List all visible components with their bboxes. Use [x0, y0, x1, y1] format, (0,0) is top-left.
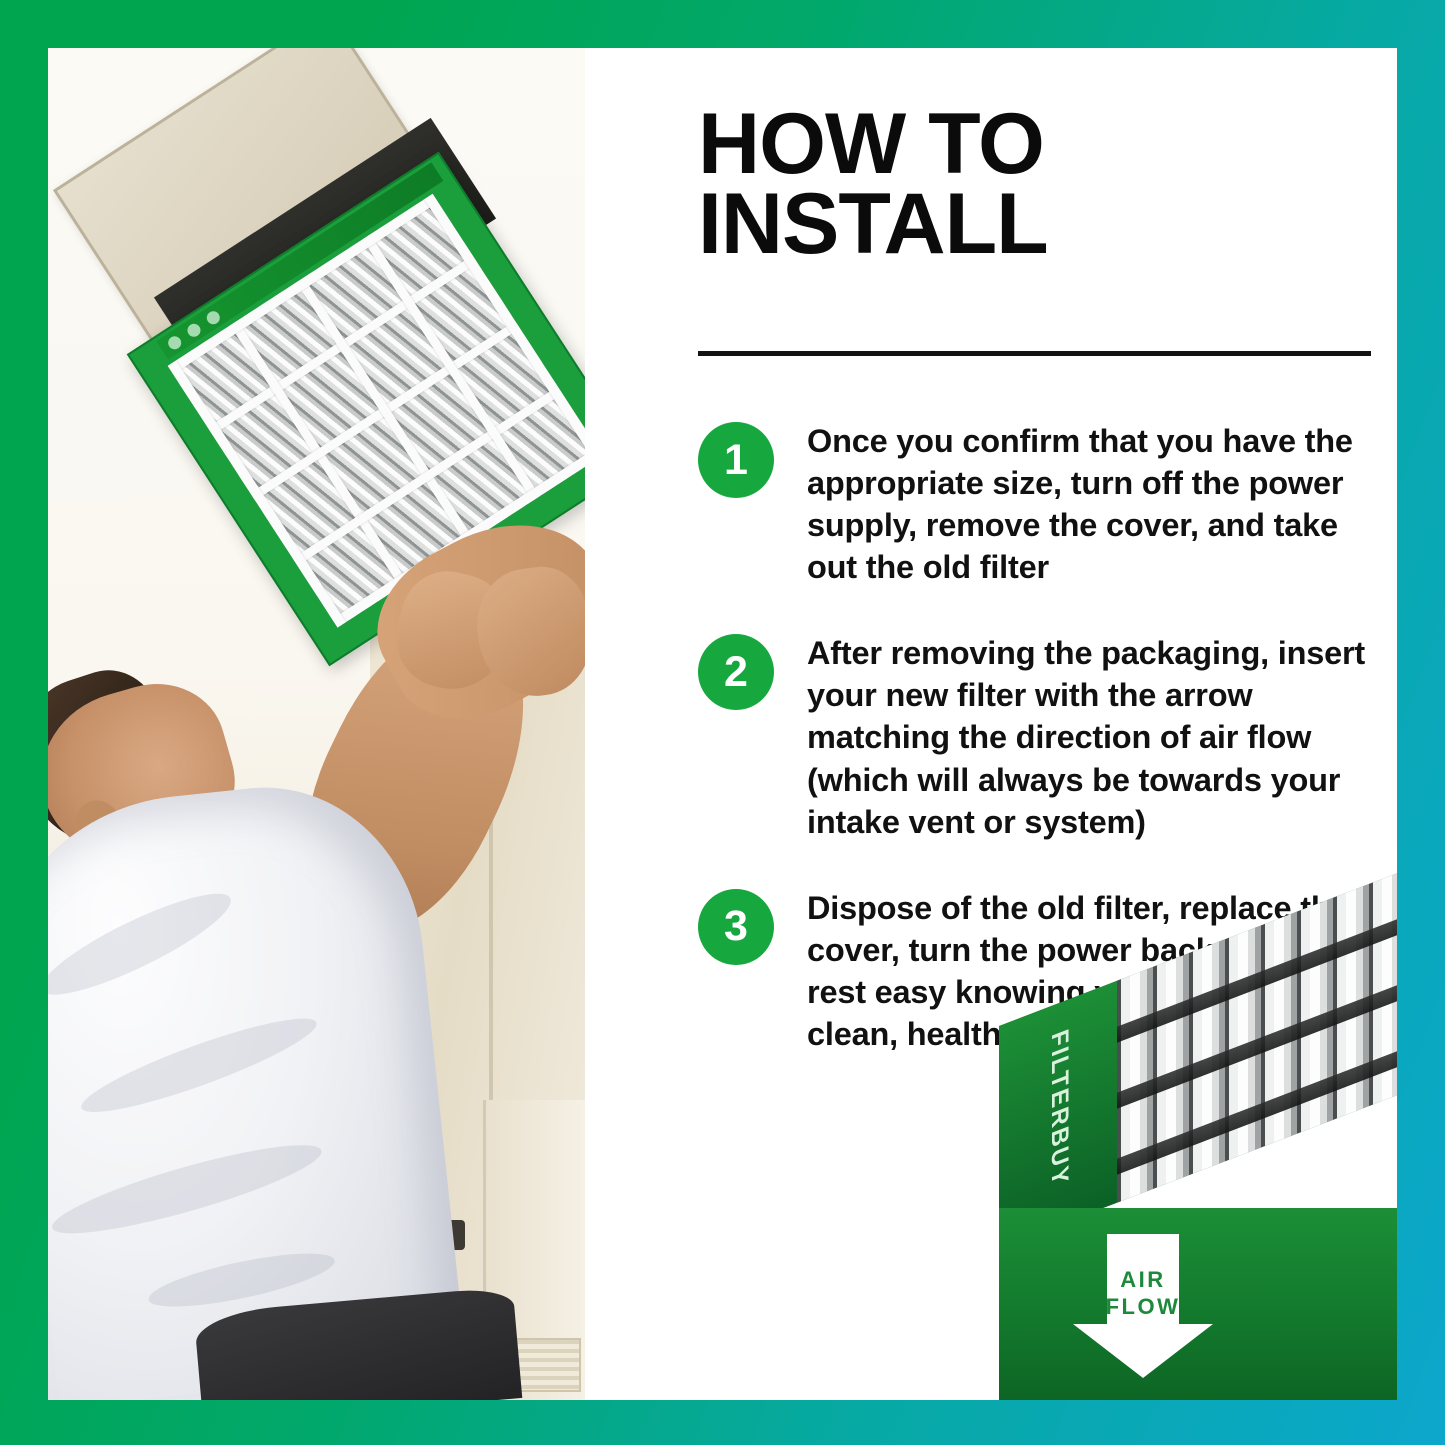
product-brand-label: FILTERBUY [1045, 1009, 1073, 1210]
air-flow-arrow-icon: AIR FLOW [1067, 1228, 1219, 1380]
poster-inner: FILTERBUY FILTERBUY [48, 48, 1397, 1400]
step-text-1: Once you confirm that you have the appro… [807, 420, 1388, 588]
step-item-1: 1 Once you confirm that you have the app… [698, 420, 1388, 588]
page-title: HOW TO INSTALL [698, 105, 1338, 265]
shirt-fold [75, 1004, 324, 1127]
air-flow-label: AIR FLOW [1067, 1266, 1219, 1321]
filter-logo-dot [204, 308, 222, 326]
step-text-2: After removing the packaging, insert you… [807, 632, 1388, 842]
title-line-1: HOW TO [698, 105, 1338, 185]
shirt-fold [48, 1130, 327, 1249]
step-number-badge-2: 2 [698, 634, 774, 710]
step-number-badge-1: 1 [698, 422, 774, 498]
poster-frame: FILTERBUY FILTERBUY [0, 0, 1445, 1445]
product-filter-face: AIR FLOW [999, 1208, 1397, 1400]
air-flow-line-2: FLOW [1067, 1293, 1219, 1320]
product-filter-image: FILTERBUY AIR FLOW [999, 1026, 1397, 1400]
shirt-fold [48, 878, 240, 1011]
filter-logo-dot [185, 321, 203, 339]
title-line-2: INSTALL [698, 185, 1338, 265]
install-photo: FILTERBUY FILTERBUY [48, 48, 585, 1400]
step-number-badge-3: 3 [698, 889, 774, 965]
title-divider [698, 351, 1371, 356]
content-panel: HOW TO INSTALL 1 Once you confirm that y… [585, 48, 1397, 1400]
step-item-2: 2 After removing the packaging, insert y… [698, 632, 1388, 842]
filter-logo-dot [165, 333, 183, 351]
air-flow-line-1: AIR [1067, 1266, 1219, 1293]
